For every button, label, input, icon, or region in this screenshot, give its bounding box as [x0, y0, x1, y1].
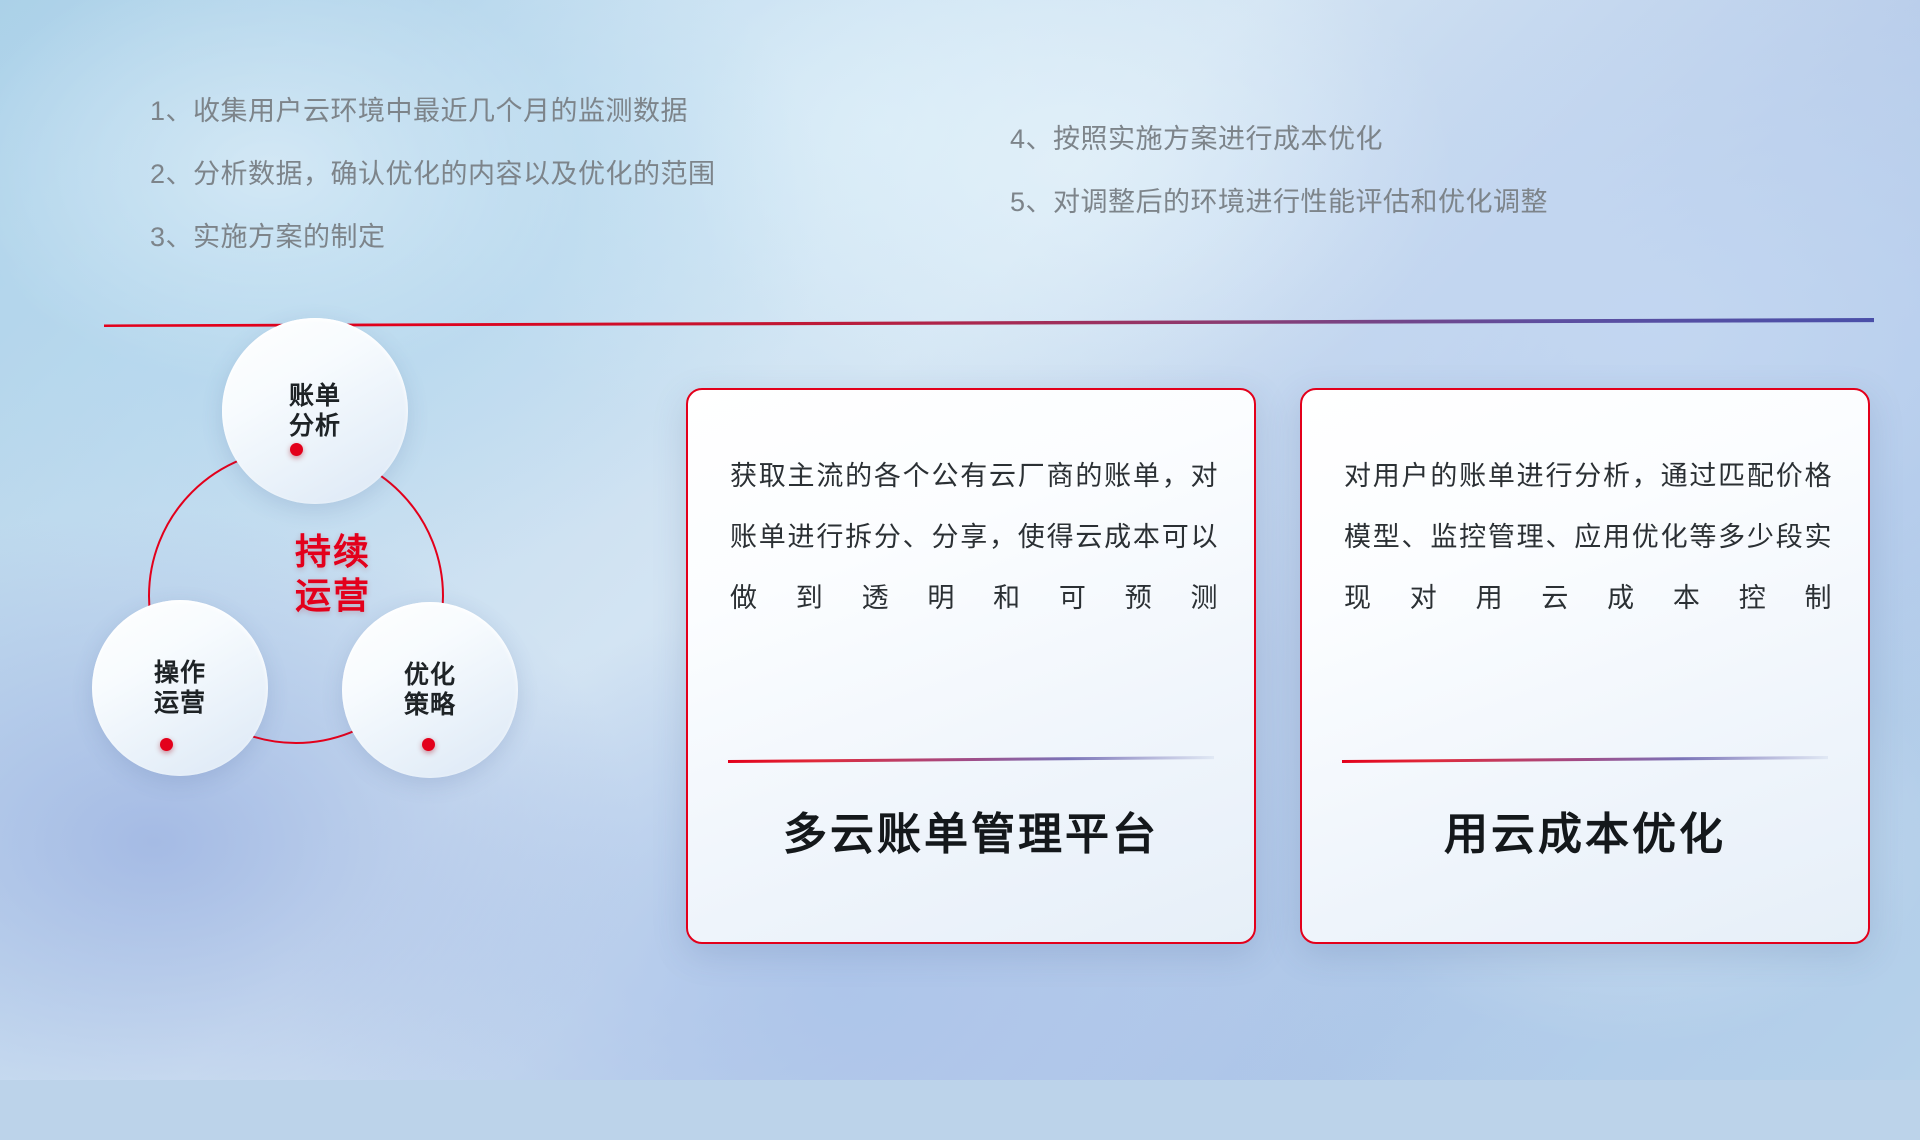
- process-list-left: 1、收集用户云环境中最近几个月的监测数据 2、分析数据，确认优化的内容以及优化的…: [150, 98, 716, 287]
- node-dot-left-icon: [160, 738, 173, 751]
- bubble-label: 账单 分析: [289, 381, 341, 442]
- process-list-right: 4、按照实施方案进行成本优化 5、对调整后的环境进行性能评估和优化调整: [1010, 126, 1548, 252]
- slide-background: 1、收集用户云环境中最近几个月的监测数据 2、分析数据，确认优化的内容以及优化的…: [0, 0, 1920, 1080]
- card-divider: [1342, 756, 1828, 763]
- section-divider: [104, 318, 1874, 327]
- bubble-label: 操作 运营: [154, 658, 206, 719]
- process-list-item: 4、按照实施方案进行成本优化: [1010, 126, 1548, 153]
- node-dot-top-icon: [290, 443, 303, 456]
- node-dot-right-icon: [422, 738, 435, 751]
- process-list-item: 5、对调整后的环境进行性能评估和优化调整: [1010, 189, 1548, 216]
- bubble-optimization-strategy[interactable]: 优化 策略: [342, 602, 518, 778]
- bubble-label: 优化 策略: [404, 660, 456, 721]
- bubble-bill-analysis[interactable]: 账单 分析: [222, 318, 408, 504]
- card-body-text: 获取主流的各个公有云厂商的账单，对账单进行拆分、分享，使得云成本可以做到透明和可…: [730, 446, 1218, 628]
- card-body-text: 对用户的账单进行分析，通过匹配价格模型、监控管理、应用优化等多少段实现对用云成本…: [1344, 446, 1832, 628]
- card-multicloud-billing-platform[interactable]: 获取主流的各个公有云厂商的账单，对账单进行拆分、分享，使得云成本可以做到透明和可…: [686, 388, 1256, 944]
- process-list-item: 3、实施方案的制定: [150, 224, 716, 251]
- card-divider: [728, 756, 1214, 763]
- diagram-center-label: 持续 运营: [248, 530, 418, 618]
- card-title: 用云成本优化: [1302, 798, 1868, 862]
- bubble-operations[interactable]: 操作 运营: [92, 600, 268, 776]
- process-list-item: 1、收集用户云环境中最近几个月的监测数据: [150, 98, 716, 125]
- card-cloud-cost-optimization[interactable]: 对用户的账单进行分析，通过匹配价格模型、监控管理、应用优化等多少段实现对用云成本…: [1300, 388, 1870, 944]
- card-title: 多云账单管理平台: [688, 798, 1254, 862]
- process-list-item: 2、分析数据，确认优化的内容以及优化的范围: [150, 161, 716, 188]
- continuous-operation-diagram: 账单 分析 操作 运营 优化 策略 持续 运营: [100, 340, 580, 940]
